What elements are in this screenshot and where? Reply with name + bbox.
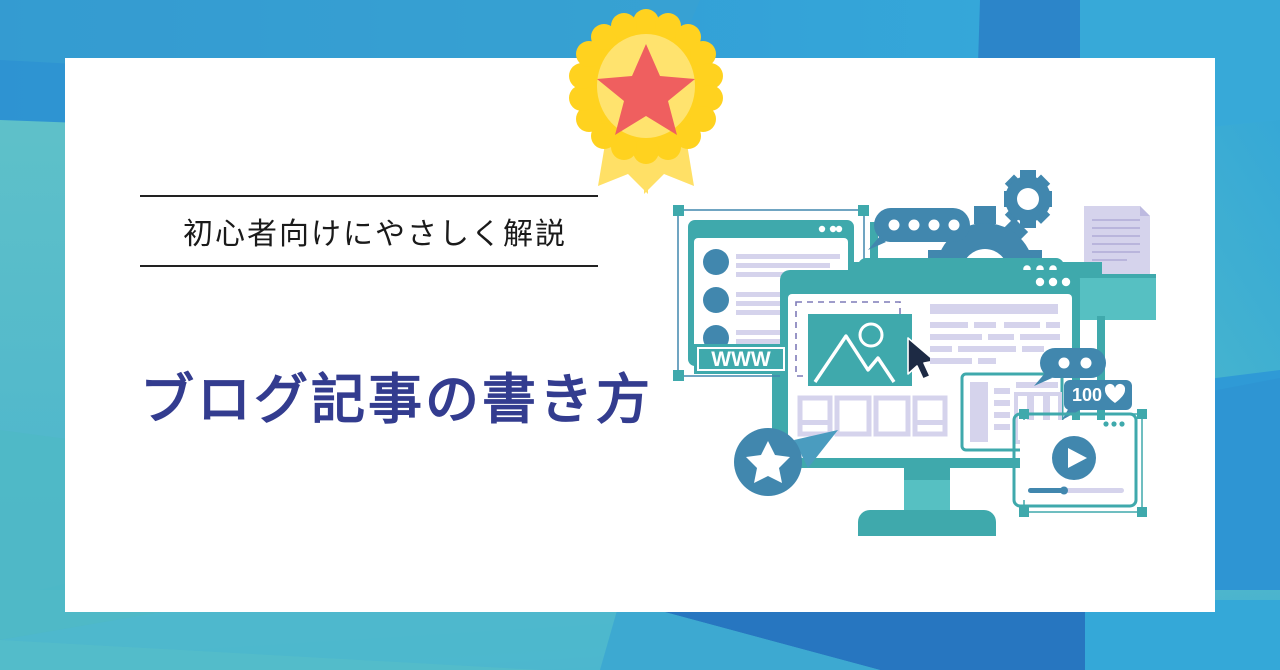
slide-canvas: 初心者向けにやさしく解説 ブログ記事の書き方 [0, 0, 1280, 670]
www-badge: WWW [694, 344, 788, 374]
blog-editing-workstation-illustration: WWW 100 [672, 158, 1172, 548]
like-count-label: 100 [1072, 385, 1102, 405]
page-title: ブログ記事の書き方 [140, 355, 653, 434]
image-placeholder-icon [808, 314, 912, 386]
subtitle: 初心者向けにやさしく解説 [140, 197, 610, 265]
window-dots [1036, 278, 1070, 286]
headline-group: 初心者向けにやさしく解説 [140, 195, 610, 267]
window-dots [1103, 421, 1124, 426]
play-button-icon [1052, 436, 1096, 480]
www-label: WWW [711, 348, 771, 371]
video-player-window [1014, 409, 1147, 517]
divider-bottom [140, 265, 598, 267]
